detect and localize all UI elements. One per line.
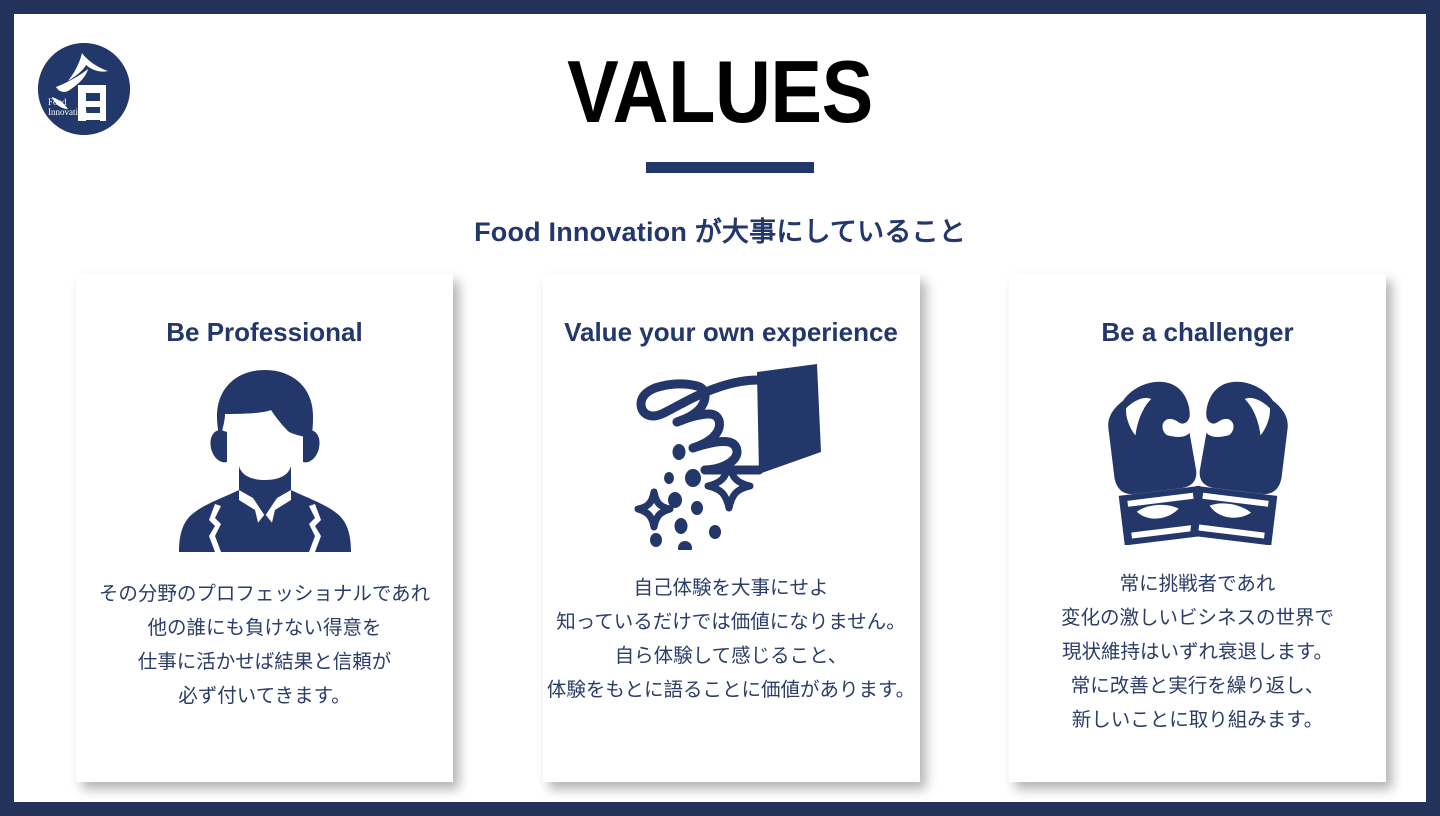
card-body-line: 自己体験を大事にせよ [543, 571, 920, 605]
card-body-line: 体験をもとに語ることに価値があります。 [543, 673, 920, 707]
logo-text-line2: Innovation [48, 107, 87, 117]
page-subtitle: Food Innovation が大事にしていること [14, 210, 1426, 249]
logo-text-line1: Food [48, 97, 67, 107]
card-body-line: 変化の激しいビシネスの世界で [1009, 601, 1386, 635]
hand-sprinkling-icon [631, 355, 831, 555]
card-body-line: その分野のプロフェッショナルであれ [76, 577, 453, 611]
card-body-line: 仕事に活かせば結果と信頼が [76, 645, 453, 679]
card-title: Be Professional [166, 318, 363, 347]
boxing-gloves-icon [1100, 367, 1296, 553]
card-title: Value your own experience [564, 318, 898, 347]
value-card-be-a-challenger[interactable]: Be a challenger [1009, 274, 1386, 782]
title-divider [646, 162, 814, 173]
values-card-list: Be Professional [76, 274, 1386, 794]
slide-page: Food Innovation VALUES Food Innovation が… [14, 14, 1426, 802]
card-body: その分野のプロフェッショナルであれ 他の誰にも負けない得意を 仕事に活かせば結果… [76, 577, 453, 713]
card-body-line: 現状維持はいずれ衰退します。 [1009, 635, 1386, 669]
card-body-line: 自ら体験して感じること、 [543, 639, 920, 673]
card-body-line: 新しいことに取り組みます。 [1009, 703, 1386, 737]
card-body: 自己体験を大事にせよ 知っているだけでは価値になりません。 自ら体験して感じるこ… [543, 571, 920, 707]
card-body-line: 他の誰にも負けない得意を [76, 611, 453, 645]
page-title: VALUES [99, 48, 1342, 136]
card-body: 常に挑戦者であれ 変化の激しいビシネスの世界で 現状維持はいずれ衰退します。 常… [1009, 567, 1386, 737]
card-body-line: 常に改善と実行を繰り返し、 [1009, 669, 1386, 703]
card-body-line: 必ず付いてきます。 [76, 679, 453, 713]
card-title: Be a challenger [1101, 318, 1293, 347]
value-card-value-your-own-experience[interactable]: Value your own experience [543, 274, 920, 782]
slide-root: Food Innovation VALUES Food Innovation が… [0, 0, 1440, 816]
businessman-icon [175, 361, 355, 561]
card-body-line: 知っているだけでは価値になりません。 [543, 605, 920, 639]
value-card-be-professional[interactable]: Be Professional [76, 274, 453, 782]
card-body-line: 常に挑戦者であれ [1009, 567, 1386, 601]
